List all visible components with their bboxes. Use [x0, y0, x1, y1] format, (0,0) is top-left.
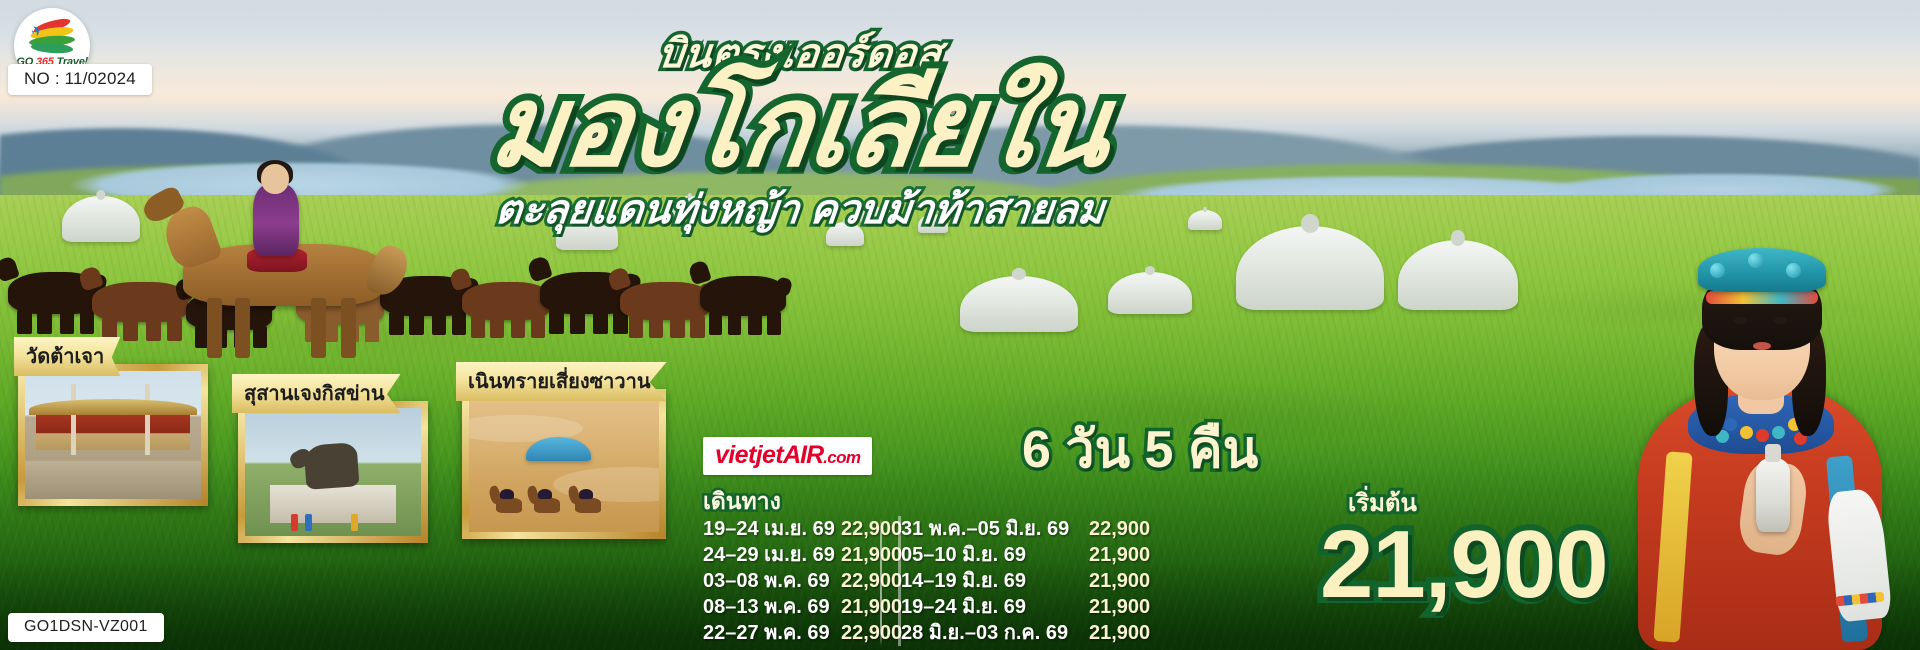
schedule-row[interactable]: 05–10 มิ.ย. 69 21,900 [901, 542, 1150, 568]
horse-figure [92, 282, 188, 322]
document-number-badge: NO : 11/02024 [8, 64, 152, 95]
schedule-dates: 08–13 พ.ค. 69 [703, 594, 841, 620]
schedule-row[interactable]: 24–29 เม.ย. 69 21,900 [703, 542, 902, 568]
silver-bottle [1756, 458, 1790, 532]
schedule-price: 21,900 [1089, 568, 1150, 594]
schedule-dates: 22–27 พ.ค. 69 [703, 620, 841, 646]
schedule-dates: 31 พ.ค.–05 มิ.ย. 69 [901, 516, 1089, 542]
schedule-price: 22,900 [841, 568, 902, 594]
schedule-list-left: 19–24 เม.ย. 69 22,900 24–29 เม.ย. 69 21,… [703, 516, 902, 646]
yurt-icon [672, 196, 708, 218]
travel-dates-label: เดินทาง [703, 490, 781, 513]
schedule-column-left: 19–24 เม.ย. 69 22,900 24–29 เม.ย. 69 21,… [703, 516, 902, 646]
rider-head [261, 164, 289, 194]
schedule-dates: 05–10 มิ.ย. 69 [901, 542, 1089, 568]
horse-rider-figure [175, 170, 405, 355]
thumbnail-caption: วัดต้าเจา [14, 337, 120, 376]
airline-name-air: AIR [783, 441, 823, 469]
thumbnail-desert[interactable] [462, 389, 666, 539]
airline-name-domain: .com [823, 448, 860, 467]
temple-photo [25, 371, 201, 499]
schedule-price: 21,900 [841, 542, 902, 568]
thumbnail-temple[interactable] [18, 364, 208, 506]
schedule-dates: 19–24 เม.ย. 69 [703, 516, 841, 542]
schedule-row[interactable]: 19–24 เม.ย. 69 22,900 [703, 516, 902, 542]
horse-figure [700, 276, 786, 316]
yurt-icon [826, 222, 864, 246]
schedule-price: 21,900 [1089, 620, 1150, 646]
travel-banner: ✈ GO 365 Travel Leaders in Global Touris… [0, 0, 1920, 650]
thumbnail-caption: เนินทรายเสี่ยงซาวาน [456, 362, 667, 401]
headband [1706, 291, 1818, 304]
headdress-jewel [1786, 263, 1801, 278]
horse-figure [620, 282, 710, 320]
airline-name-viet: viet [715, 441, 756, 469]
schedule-price: 21,900 [841, 594, 902, 620]
schedule-list-right: 31 พ.ค.–05 มิ.ย. 69 22,900 05–10 มิ.ย. 6… [901, 516, 1150, 646]
eye-right [1774, 317, 1787, 324]
statue-photo [245, 408, 421, 536]
schedule-row[interactable]: 22–27 พ.ค. 69 22,900 [703, 620, 902, 646]
price-amount: 21,900 [1320, 517, 1608, 613]
schedule-dates: 19–24 มิ.ย. 69 [901, 594, 1089, 620]
schedule-dates: 28 มิ.ย.–03 ก.ค. 69 [901, 620, 1089, 646]
headdress-jewel [1710, 263, 1725, 278]
schedule-row[interactable]: 14–19 มิ.ย. 69 21,900 [901, 568, 1150, 594]
airline-name-jet: jet [756, 441, 783, 469]
yurt-icon [1188, 210, 1222, 230]
yurt-icon [860, 206, 886, 223]
yurt-icon [918, 214, 948, 233]
trip-duration: 6 วัน 5 คืน [1022, 424, 1258, 476]
horse-figure [462, 282, 550, 320]
vietjet-air-logo[interactable]: vietjetAIR.com [703, 437, 872, 475]
schedule-column-right: 31 พ.ค.–05 มิ.ย. 69 22,900 05–10 มิ.ย. 6… [898, 516, 1150, 646]
eye-left [1734, 317, 1747, 324]
schedule-price: 21,900 [1089, 542, 1150, 568]
mouth [1753, 342, 1771, 350]
schedule-row[interactable]: 31 พ.ค.–05 มิ.ย. 69 22,900 [901, 516, 1150, 542]
schedule-price: 22,900 [1089, 516, 1150, 542]
thumbnail-statue[interactable] [238, 401, 428, 543]
schedule-row[interactable]: 19–24 มิ.ย. 69 21,900 [901, 594, 1150, 620]
thumbnail-caption: สุสานเจงกิสข่าน [232, 374, 401, 413]
headdress-jewel [1748, 253, 1763, 268]
schedule-dates: 24–29 เม.ย. 69 [703, 542, 841, 568]
yurt-icon [1028, 206, 1054, 223]
schedule-price: 22,900 [841, 620, 902, 646]
schedule-row[interactable]: 03–08 พ.ค. 69 22,900 [703, 568, 902, 594]
schedule-price: 22,900 [841, 516, 902, 542]
schedule-row[interactable]: 08–13 พ.ค. 69 21,900 [703, 594, 902, 620]
schedule-dates: 03–08 พ.ค. 69 [703, 568, 841, 594]
globe-icon: ✈ [29, 21, 75, 55]
desert-photo [469, 396, 659, 532]
product-code-badge: GO1DSN-VZ001 [8, 613, 164, 642]
schedule-row[interactable]: 28 มิ.ย.–03 ก.ค. 69 21,900 [901, 620, 1150, 646]
mongolian-woman-figure [1614, 220, 1904, 650]
schedule-dates: 14–19 มิ.ย. 69 [901, 568, 1089, 594]
schedule-price: 21,900 [1089, 594, 1150, 620]
rider-body [253, 184, 299, 256]
